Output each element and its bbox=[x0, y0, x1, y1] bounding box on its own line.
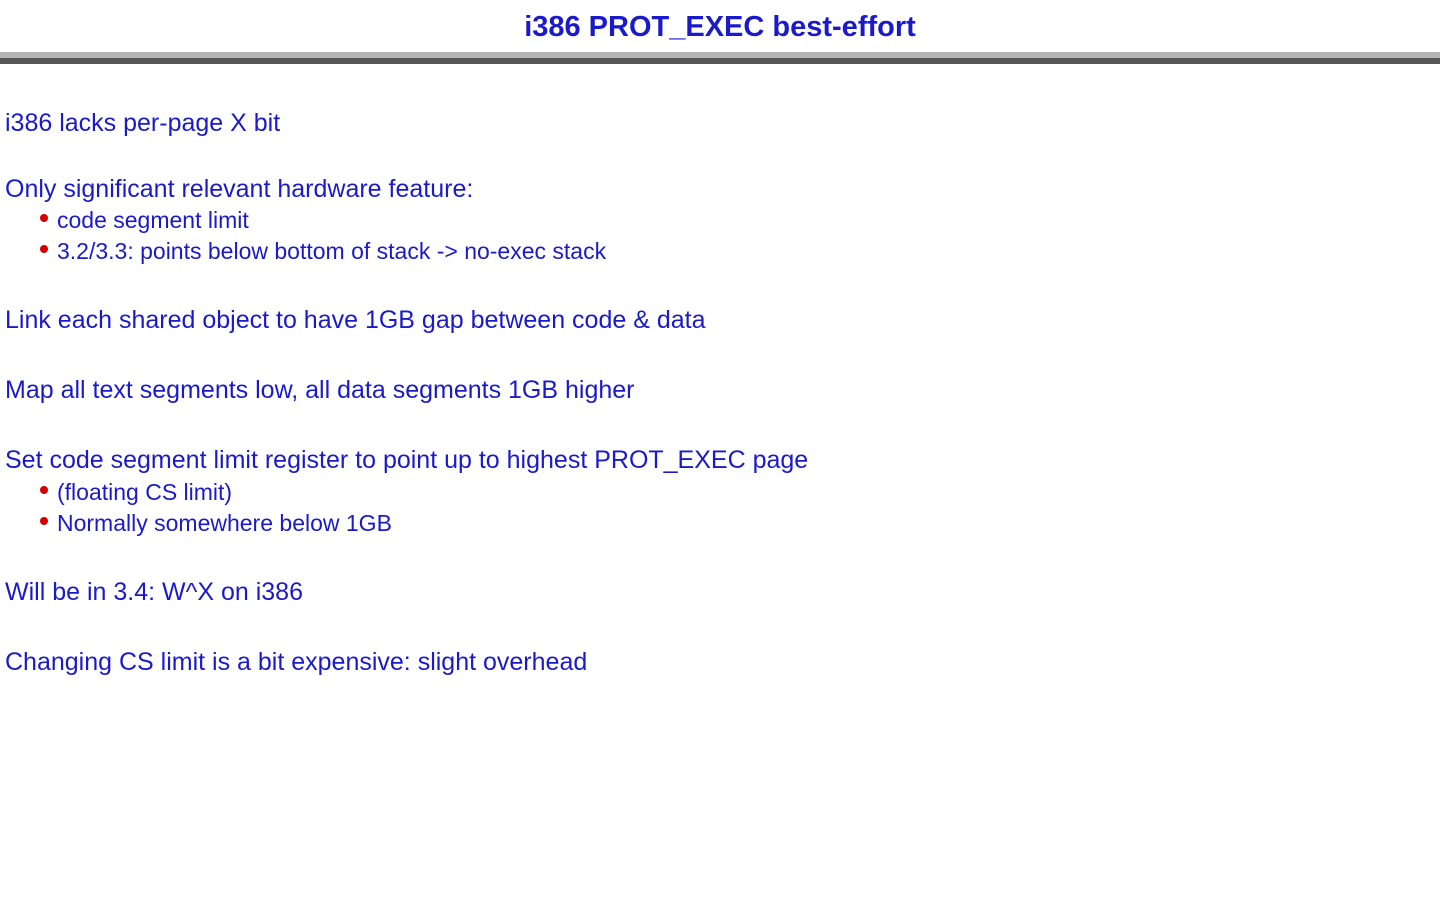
bullet-item-4-label: Normally somewhere below 1GB bbox=[57, 509, 392, 537]
slide-body: i386 lacks per-page X bit Only significa… bbox=[0, 64, 1440, 900]
bullet-dot-icon bbox=[40, 486, 48, 494]
body-line-5: Set code segment limit register to point… bbox=[5, 445, 808, 475]
bullet-item-2: 3.2/3.3: points below bottom of stack ->… bbox=[40, 237, 606, 265]
page-title: i386 PROT_EXEC best-effort bbox=[0, 9, 1440, 45]
bullet-item-1-label: code segment limit bbox=[57, 206, 249, 234]
bullet-dot-icon bbox=[40, 517, 48, 525]
bullet-dot-icon bbox=[40, 214, 48, 222]
bullet-item-1: code segment limit bbox=[40, 206, 249, 234]
body-line-4: Map all text segments low, all data segm… bbox=[5, 375, 635, 405]
bullet-item-3-label: (floating CS limit) bbox=[57, 478, 232, 506]
slide: i386 PROT_EXEC best-effort i386 lacks pe… bbox=[0, 0, 1440, 900]
body-line-6: Will be in 3.4: W^X on i386 bbox=[5, 577, 303, 607]
bullet-dot-icon bbox=[40, 245, 48, 253]
bullet-item-4: Normally somewhere below 1GB bbox=[40, 509, 392, 537]
body-line-7: Changing CS limit is a bit expensive: sl… bbox=[5, 647, 587, 677]
body-line-3: Link each shared object to have 1GB gap … bbox=[5, 305, 706, 335]
body-line-2: Only significant relevant hardware featu… bbox=[5, 174, 473, 204]
slide-header: i386 PROT_EXEC best-effort bbox=[0, 0, 1440, 52]
bullet-item-3: (floating CS limit) bbox=[40, 478, 232, 506]
body-line-1: i386 lacks per-page X bit bbox=[5, 108, 280, 138]
bullet-item-2-label: 3.2/3.3: points below bottom of stack ->… bbox=[57, 237, 606, 265]
title-divider-rule bbox=[0, 52, 1440, 64]
